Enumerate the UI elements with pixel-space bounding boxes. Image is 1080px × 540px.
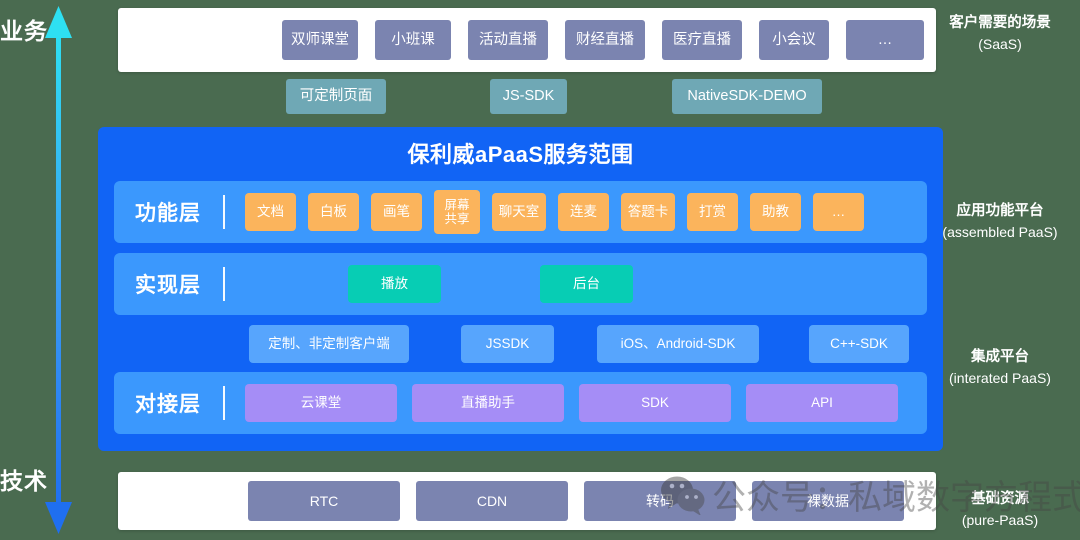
function-chip-9[interactable]: … xyxy=(813,193,864,231)
integration-row: 定制、非定制客户端 JSSDK iOS、Android-SDK C++-SDK xyxy=(114,325,927,365)
side-label-pure-paas-en: (pure-PaaS) xyxy=(920,510,1080,530)
function-chip-5[interactable]: 连麦 xyxy=(558,193,609,231)
integration-chip-3[interactable]: C++-SDK xyxy=(809,325,909,363)
axis-label-business: 业务 xyxy=(0,12,50,46)
scenario-card: 双师课堂 小班课 活动直播 财经直播 医疗直播 小会议 … xyxy=(118,8,936,72)
function-chip-4[interactable]: 聊天室 xyxy=(492,193,546,231)
docking-layer-row: 对接层 云课堂 直播助手 SDK API xyxy=(114,372,927,434)
function-chip-0[interactable]: 文档 xyxy=(245,193,296,231)
scenario-chip-6[interactable]: … xyxy=(846,20,924,60)
docking-chip-1[interactable]: 直播助手 xyxy=(412,384,564,422)
panel-title: 保利威aPaaS服务范围 xyxy=(98,137,943,169)
side-label-pure-paas-cn: 基础资源 xyxy=(920,489,1080,510)
implementation-chip-playback[interactable]: 播放 xyxy=(348,265,441,303)
side-label-assembled-paas: 应用功能平台 (assembled PaaS) xyxy=(920,201,1080,242)
side-label-saas: 客户需要的场景 (SaaS) xyxy=(920,13,1080,54)
diagram-canvas: 业务 技术 客户需要的场景 (SaaS) 应用功能平台 (assembled P… xyxy=(0,0,1080,540)
docking-chip-3[interactable]: API xyxy=(746,384,898,422)
implementation-layer-label: 实现层 xyxy=(135,269,201,299)
scenario-chip-0[interactable]: 双师课堂 xyxy=(282,20,358,60)
function-chip-7[interactable]: 打赏 xyxy=(687,193,738,231)
resource-chip-transcode[interactable]: 转码 xyxy=(584,481,736,521)
sdk-chip-nativesdk-demo[interactable]: NativeSDK-DEMO xyxy=(672,79,822,114)
docking-chip-0[interactable]: 云课堂 xyxy=(245,384,397,422)
function-layer-row: 功能层 文档 白板 画笔 屏幕 共享 聊天室 连麦 答题卡 打赏 助教 … xyxy=(114,181,927,243)
business-to-technology-axis-arrow xyxy=(40,4,78,536)
function-layer-label: 功能层 xyxy=(135,197,201,227)
implementation-layer-row: 实现层 播放 后台 xyxy=(114,253,927,315)
function-chip-6[interactable]: 答题卡 xyxy=(621,193,675,231)
docking-layer-label: 对接层 xyxy=(135,388,201,418)
function-chip-2[interactable]: 画笔 xyxy=(371,193,422,231)
function-chip-3[interactable]: 屏幕 共享 xyxy=(434,190,480,234)
scenario-chip-4[interactable]: 医疗直播 xyxy=(662,20,742,60)
side-label-saas-en: (SaaS) xyxy=(920,34,1080,54)
resource-chip-raw-data[interactable]: 裸数据 xyxy=(752,481,904,521)
side-label-integrated-paas-cn: 集成平台 xyxy=(920,347,1080,368)
scenario-chip-5[interactable]: 小会议 xyxy=(759,20,829,60)
scenario-chip-2[interactable]: 活动直播 xyxy=(468,20,548,60)
side-label-assembled-paas-en: (assembled PaaS) xyxy=(920,222,1080,242)
side-label-pure-paas: 基础资源 (pure-PaaS) xyxy=(920,489,1080,530)
implementation-chip-backend[interactable]: 后台 xyxy=(540,265,633,303)
implementation-layer-divider xyxy=(223,267,225,301)
side-label-assembled-paas-cn: 应用功能平台 xyxy=(920,201,1080,222)
scenario-chip-3[interactable]: 财经直播 xyxy=(565,20,645,60)
docking-layer-divider xyxy=(223,386,225,420)
resource-chip-cdn[interactable]: CDN xyxy=(416,481,568,521)
apaas-service-panel: 保利威aPaaS服务范围 功能层 文档 白板 画笔 屏幕 共享 聊天室 连麦 答… xyxy=(98,127,943,451)
sdk-chip-customizable-page[interactable]: 可定制页面 xyxy=(286,79,386,114)
axis-label-technology: 技术 xyxy=(0,462,50,496)
integration-chip-1[interactable]: JSSDK xyxy=(461,325,554,363)
sdk-chip-js-sdk[interactable]: JS-SDK xyxy=(490,79,567,114)
integration-chip-2[interactable]: iOS、Android-SDK xyxy=(597,325,759,363)
implementation-layer-items: 播放 后台 xyxy=(245,265,633,303)
scenario-chip-1[interactable]: 小班课 xyxy=(375,20,451,60)
docking-layer-items: 云课堂 直播助手 SDK API xyxy=(245,384,898,422)
function-chip-1[interactable]: 白板 xyxy=(308,193,359,231)
resource-chip-rtc[interactable]: RTC xyxy=(248,481,400,521)
function-chip-8[interactable]: 助教 xyxy=(750,193,801,231)
side-label-integrated-paas-en: (interated PaaS) xyxy=(920,368,1080,388)
function-layer-items: 文档 白板 画笔 屏幕 共享 聊天室 连麦 答题卡 打赏 助教 … xyxy=(245,190,864,234)
side-label-integrated-paas: 集成平台 (interated PaaS) xyxy=(920,347,1080,388)
docking-chip-2[interactable]: SDK xyxy=(579,384,731,422)
function-layer-divider xyxy=(223,195,225,229)
integration-chip-0[interactable]: 定制、非定制客户端 xyxy=(249,325,409,363)
resource-card: RTC CDN 转码 裸数据 xyxy=(118,472,936,530)
side-label-saas-cn: 客户需要的场景 xyxy=(920,13,1080,34)
